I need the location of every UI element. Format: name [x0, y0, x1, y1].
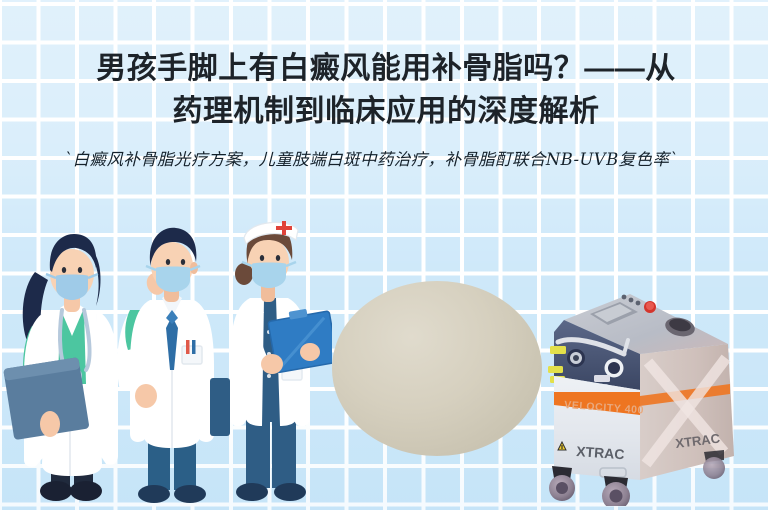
poster-canvas: 男孩手脚上有白癜风能用补骨脂吗？——从 药理机制到临床应用的深度解析 `白癜风补… [0, 0, 768, 510]
laser-caster-mid [602, 476, 630, 506]
nurse-illustration [206, 212, 332, 510]
page-title: 男孩手脚上有白癜风能用补骨脂吗？——从 药理机制到临床应用的深度解析 [56, 48, 716, 133]
keyword-subtitle: `白癜风补骨脂光疗方案，儿童肢端白斑中药治疗，补骨脂酊联合NB-UVB复色率` [64, 148, 680, 171]
xtrac-laser-device-illustration: XTRAC [528, 280, 744, 506]
laser-caster-front [549, 466, 575, 501]
laser-caster-rear [703, 450, 725, 479]
vitiligo-skin-patch [332, 281, 542, 456]
laser-brand-front-text: XTRAC [576, 443, 625, 462]
